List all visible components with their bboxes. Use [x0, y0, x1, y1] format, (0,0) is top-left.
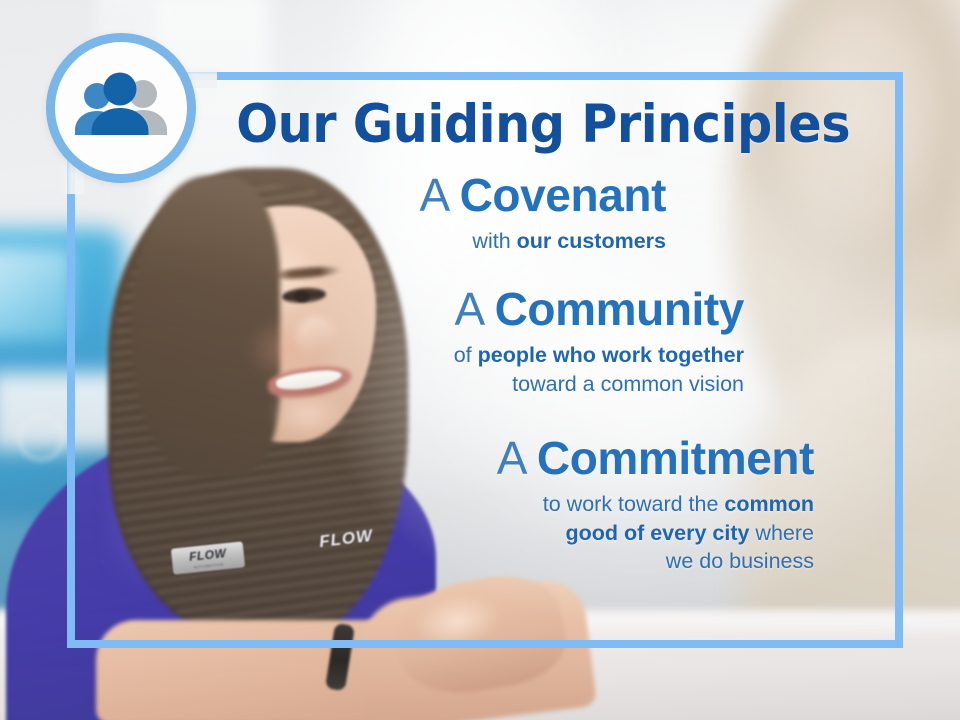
guiding-principles-poster: FLOW AUTOMOTIVE FLOW Our Guiding Princip… — [0, 0, 960, 720]
principle-community-word: Community — [495, 283, 744, 335]
text-run-bold: our customers — [517, 229, 666, 253]
text-run: where — [749, 521, 814, 545]
principle-commitment-word: Commitment — [537, 432, 814, 484]
text-run: to work toward the — [543, 492, 725, 516]
principle-covenant-subtext: with our customers — [0, 227, 666, 256]
text-run: we do business — [666, 549, 814, 573]
page-title: Our Guiding Principles — [236, 98, 850, 151]
principle-covenant-heading: A Covenant — [0, 171, 666, 220]
principle-commitment-subline-2: good of every city where — [48, 519, 814, 548]
principle-covenant-subline-1: with our customers — [0, 227, 666, 256]
principle-commitment-subtext: to work toward the common good of every … — [48, 490, 814, 576]
principle-commitment-subline-1: to work toward the common — [48, 490, 814, 519]
principle-covenant: A Covenant with our customers — [0, 171, 666, 255]
principle-commitment: A Commitment to work toward the common g… — [48, 434, 814, 576]
poster-text-column: Our Guiding Principles A Covenant with o… — [90, 72, 880, 648]
text-run: of — [454, 343, 478, 367]
principle-community-subline-2: toward a common vision — [0, 370, 744, 399]
text-run-bold: good of every city — [565, 521, 749, 545]
text-run-bold: people who work together — [478, 343, 744, 367]
principle-covenant-article: A — [419, 169, 447, 221]
principle-community-heading: A Community — [0, 285, 744, 334]
text-run-bold: common — [724, 492, 814, 516]
principle-community: A Community of people who work together … — [0, 285, 744, 398]
principle-community-subline-1: of people who work together — [0, 341, 744, 370]
principle-community-article: A — [454, 283, 482, 335]
principle-commitment-article: A — [497, 432, 525, 484]
principle-covenant-word: Covenant — [460, 169, 666, 221]
text-run: toward a common vision — [512, 372, 744, 396]
principle-community-subtext: of people who work together toward a com… — [0, 341, 744, 398]
principle-commitment-heading: A Commitment — [48, 434, 814, 483]
text-run: with — [472, 229, 516, 253]
principle-commitment-subline-3: we do business — [48, 547, 814, 576]
